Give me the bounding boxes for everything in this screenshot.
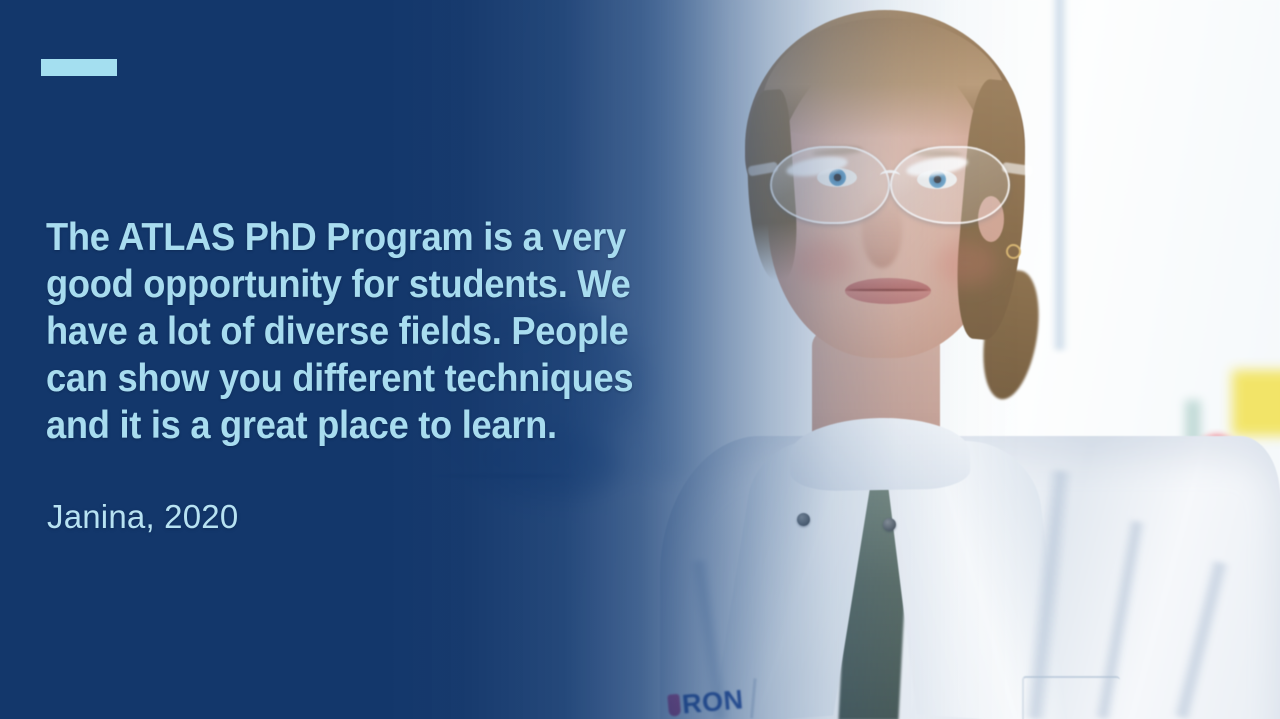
quote-text: The ATLAS PhD Program is a very good opp… [46,214,641,449]
slide-content: The ATLAS PhD Program is a very good opp… [0,0,1280,719]
quote-attribution: Janina, 2020 [47,497,238,537]
testimonial-slide: RON The ATLAS PhD Program is a very good… [0,0,1280,719]
accent-bar [41,59,117,76]
